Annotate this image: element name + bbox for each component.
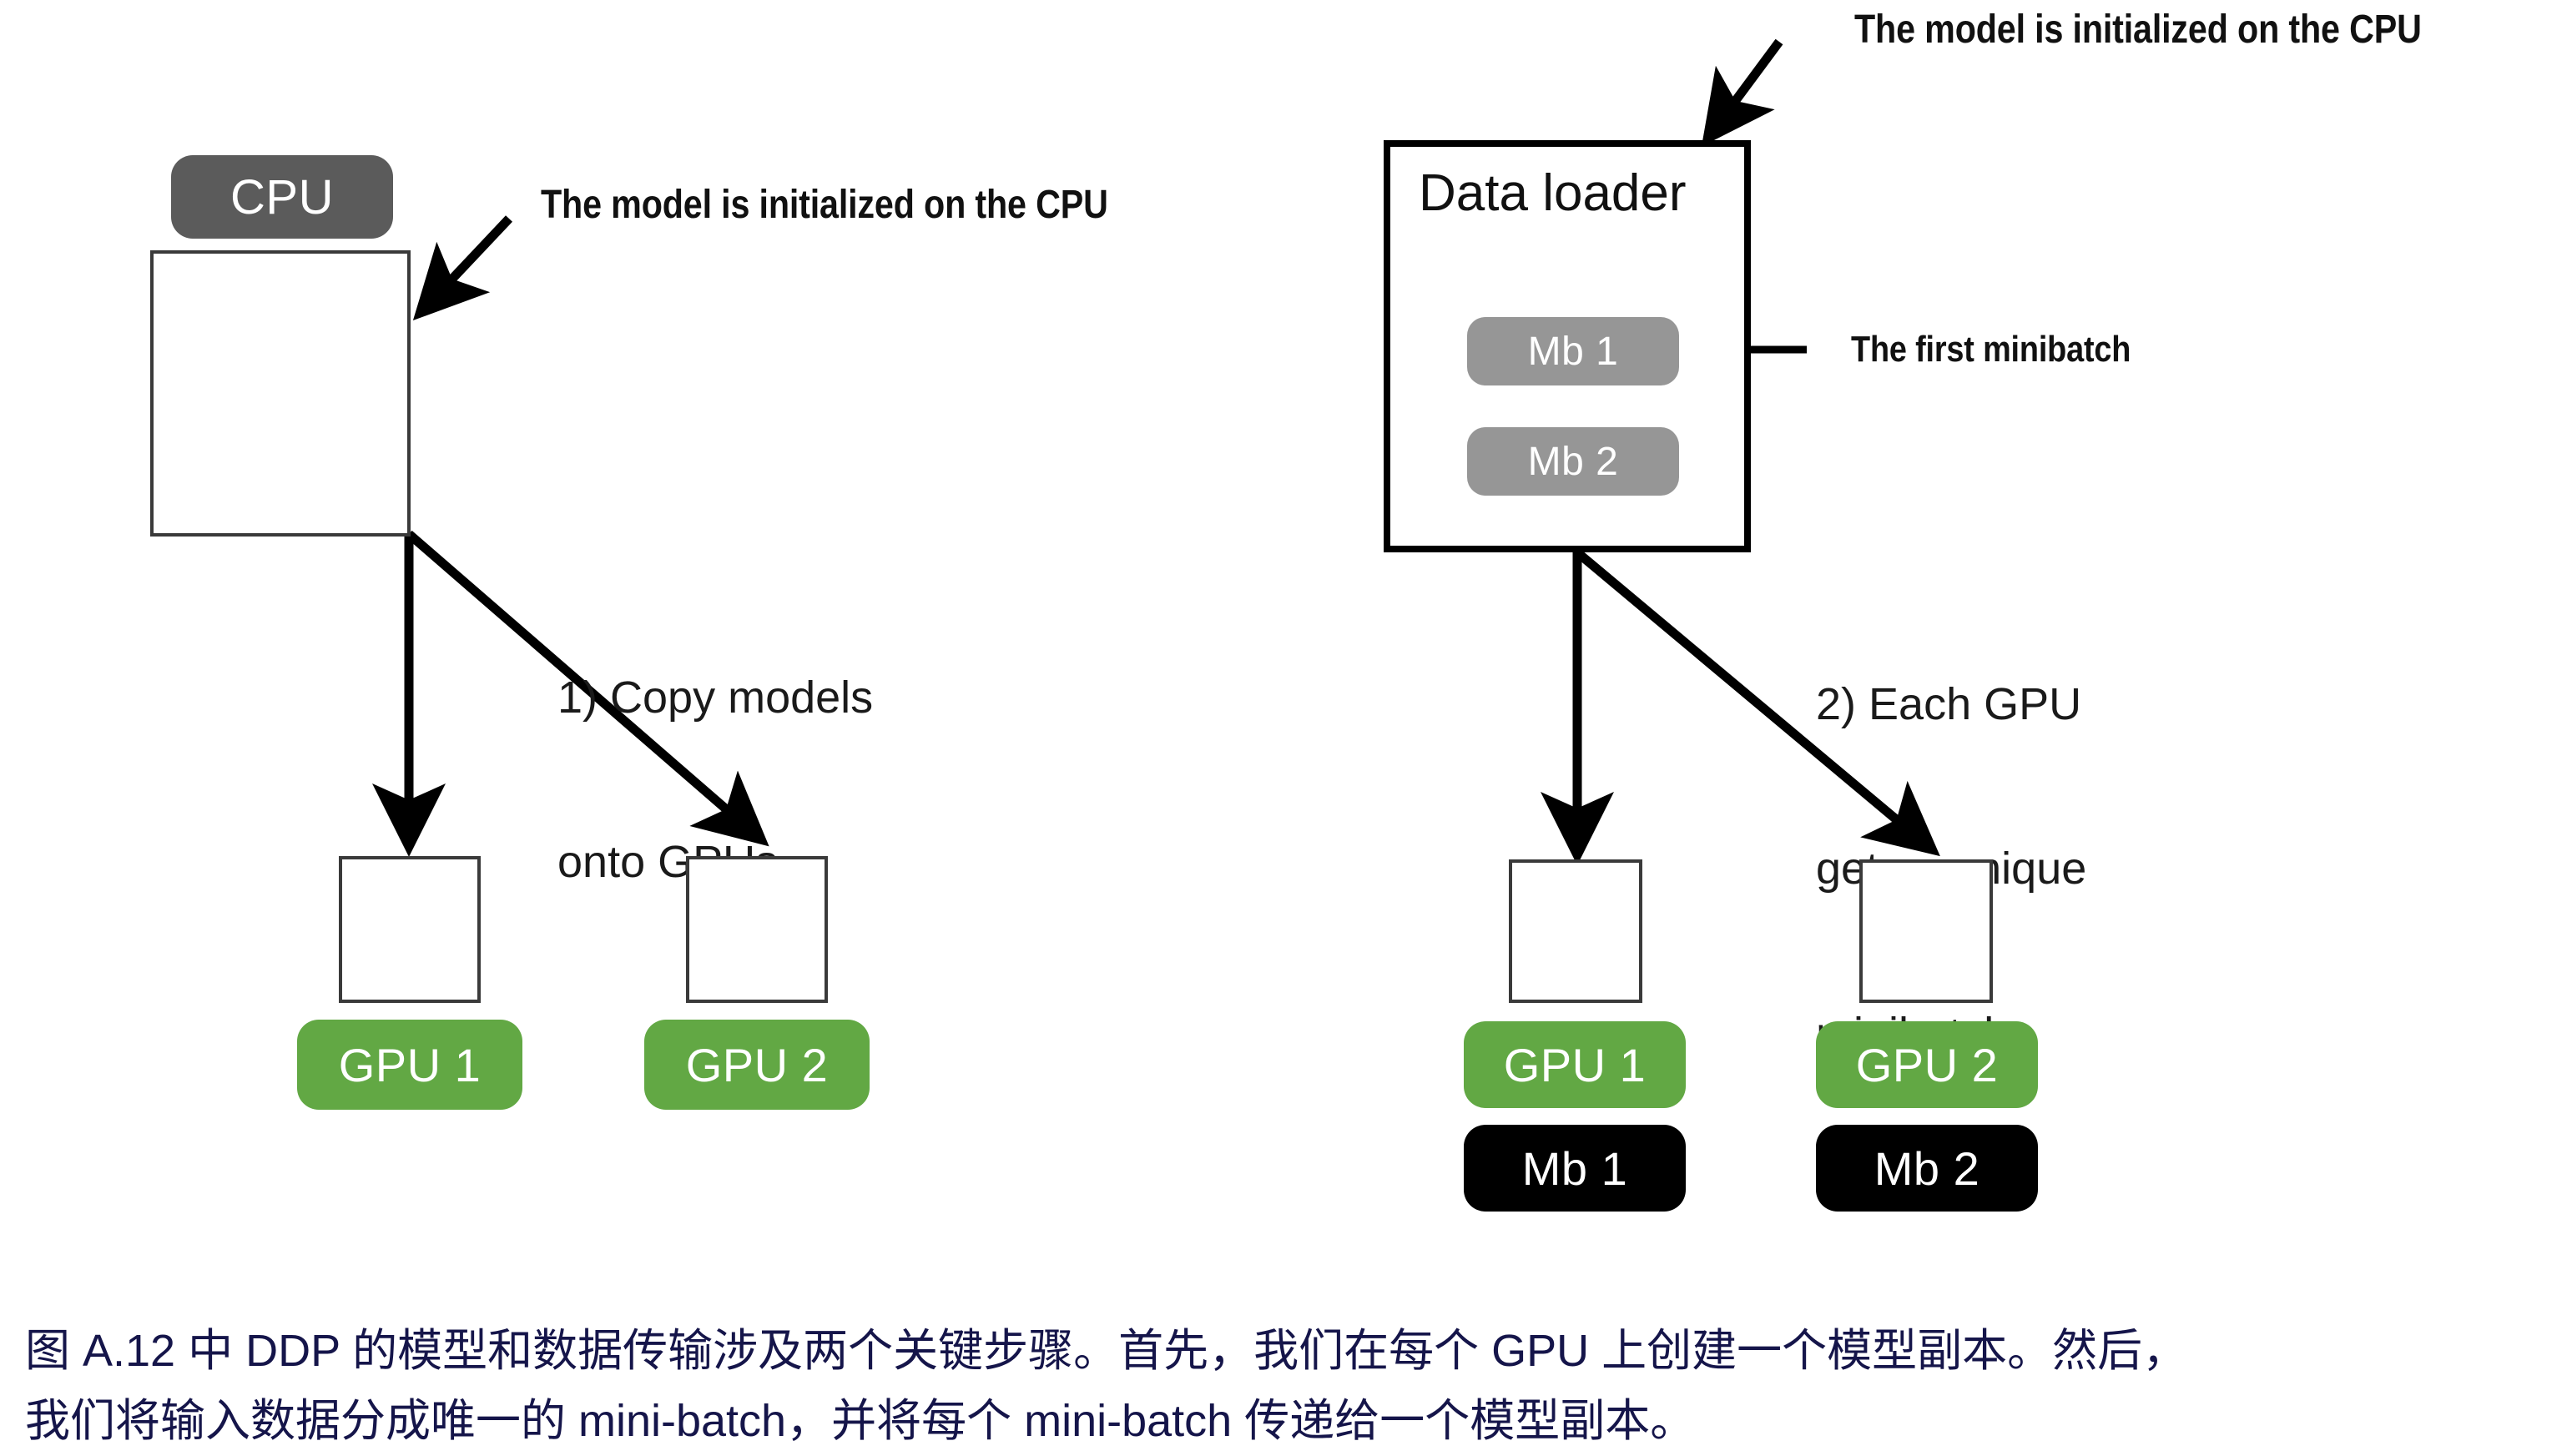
gpu1-chip-right-label: GPU 1 [1504, 1038, 1647, 1092]
data-loader-title: Data loader [1419, 164, 1687, 223]
gpu1-chip-right: GPU 1 [1464, 1021, 1686, 1108]
minibatch-chip-1: Mb 1 [1467, 317, 1679, 385]
figure-canvas: CPU The model is initialized on the CPU … [0, 0, 2567, 1445]
minibatch-chip-2: Mb 2 [1467, 427, 1679, 496]
minibatch-chip-2-label: Mb 2 [1528, 439, 1619, 485]
arrow-annotation-left [426, 219, 509, 307]
gpu2-model-box-left [686, 856, 828, 1003]
cpu-chip-label: CPU [230, 169, 334, 225]
caption-line-1: 图 A.12 中 DDP 的模型和数据传输涉及两个关键步骤。首先，我们在每个 G… [25, 1317, 2545, 1387]
gpu2-chip-right: GPU 2 [1816, 1021, 2038, 1108]
annotation-model-init-right: The model is initialized on the CPU [1854, 7, 2422, 53]
step1-line1: 1) Copy models [557, 671, 873, 726]
gpu2-model-box-right [1859, 859, 1993, 1003]
gpu1-chip-left-label: GPU 1 [339, 1038, 482, 1092]
gpu1-chip-left: GPU 1 [297, 1020, 522, 1110]
gpu2-chip-right-label: GPU 2 [1856, 1038, 1999, 1092]
figure-caption: 图 A.12 中 DDP 的模型和数据传输涉及两个关键步骤。首先，我们在每个 G… [25, 1317, 2545, 1456]
mb1-chip-right: Mb 1 [1464, 1125, 1686, 1212]
cpu-chip: CPU [171, 155, 393, 239]
arrow-annotation-right [1712, 42, 1779, 132]
caption-line-2: 我们将输入数据分成唯一的 mini-batch，并将每个 mini-batch … [25, 1387, 2545, 1456]
annotation-model-init-left: The model is initialized on the CPU [541, 182, 1108, 228]
mb2-chip-right-label: Mb 2 [1874, 1141, 1980, 1196]
cpu-model-box [150, 250, 411, 537]
gpu1-model-box-left [339, 856, 481, 1003]
minibatch-chip-1-label: Mb 1 [1528, 329, 1619, 375]
gpu2-chip-left: GPU 2 [644, 1020, 870, 1110]
step2-line1: 2) Each GPU [1816, 678, 2086, 733]
mb1-chip-right-label: Mb 1 [1522, 1141, 1628, 1196]
annotation-first-minibatch: The first minibatch [1851, 329, 2131, 370]
gpu2-chip-left-label: GPU 2 [686, 1038, 829, 1092]
gpu1-model-box-right [1509, 859, 1642, 1003]
mb2-chip-right: Mb 2 [1816, 1125, 2038, 1212]
